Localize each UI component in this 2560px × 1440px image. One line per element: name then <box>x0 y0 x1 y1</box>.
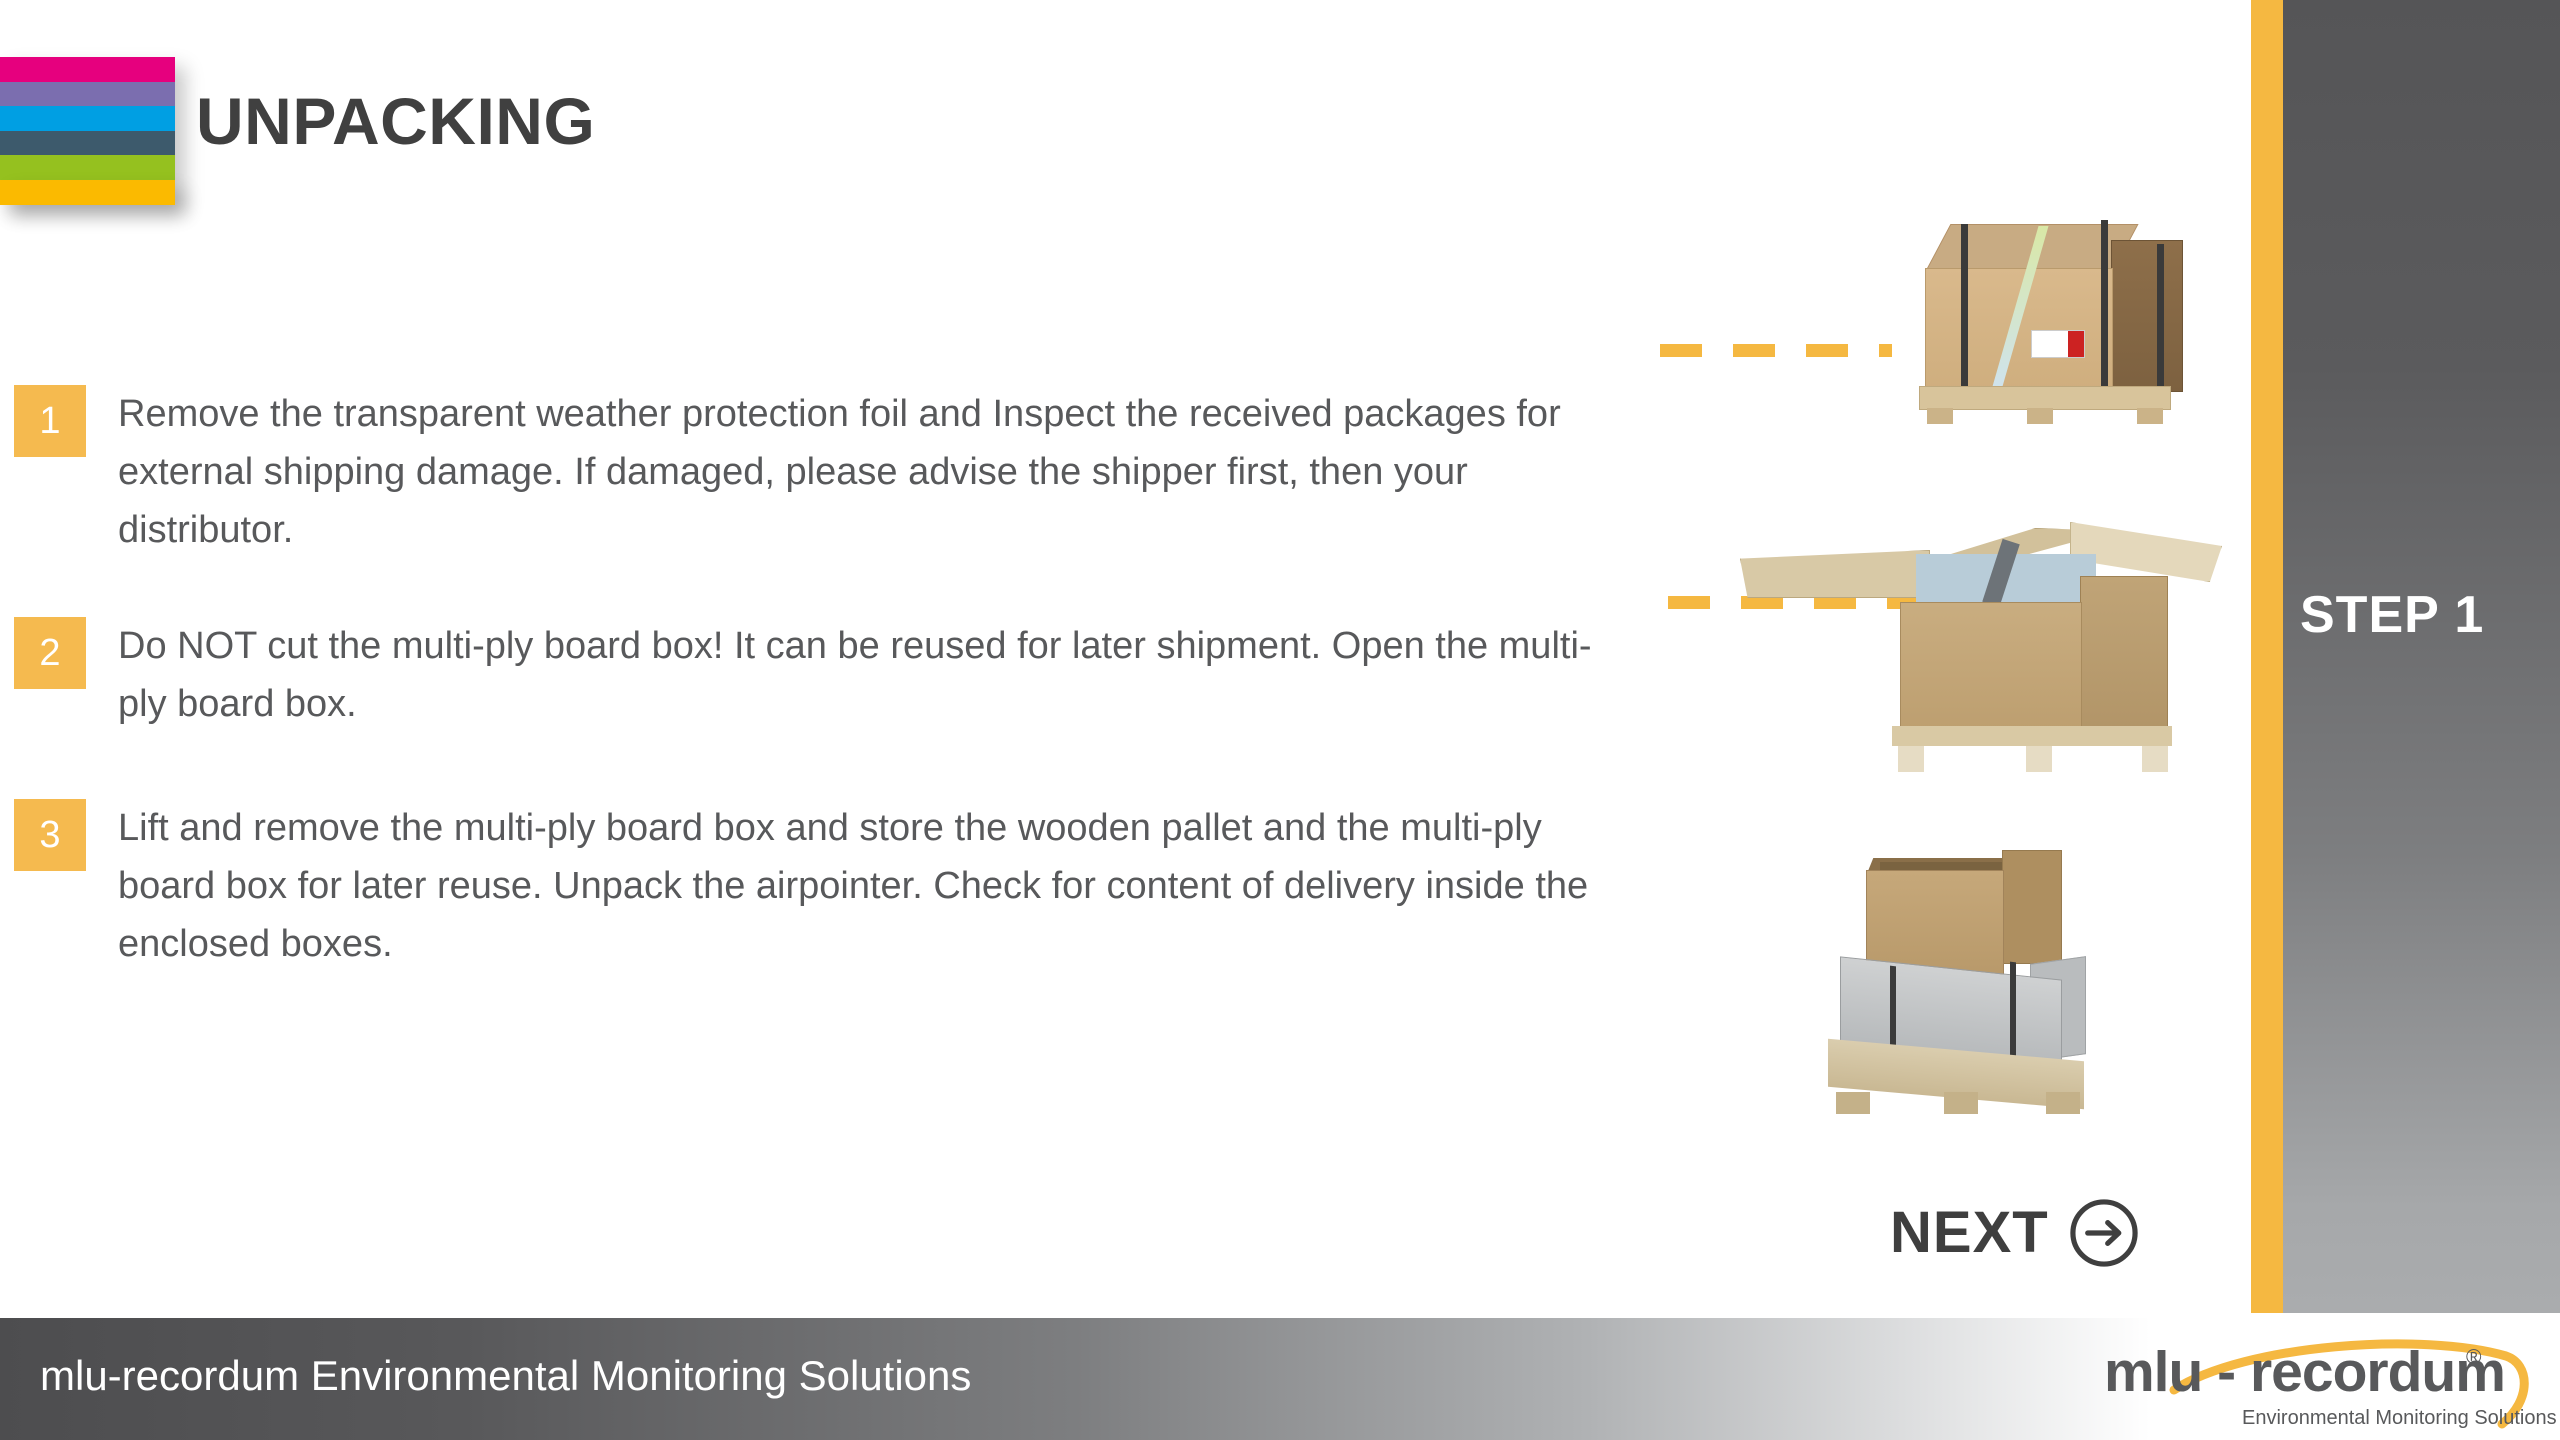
next-button[interactable]: NEXT <box>1890 1196 2141 1270</box>
stripe-slate <box>0 131 175 156</box>
logo-wordmark: mlu - recordum <box>2104 1344 2505 1401</box>
step-text-3: Lift and remove the multi-ply board box … <box>118 799 1680 973</box>
device-on-pallet-with-lifted-box-photo <box>1824 836 2124 1136</box>
registered-trademark-icon: ® <box>2466 1346 2481 1370</box>
opened-cardboard-box-on-pallet-photo <box>1740 510 2220 780</box>
stripe-yellow <box>0 180 175 205</box>
step-number-badge-1: 1 <box>14 385 86 457</box>
stripe-magenta <box>0 57 175 82</box>
right-step-panel <box>2283 0 2560 1313</box>
footer-text: mlu-recordum Environmental Monitoring So… <box>40 1352 971 1400</box>
dashed-connector-line-1 <box>1660 344 1892 357</box>
mlu-recordum-logo: mlu - recordum ® Environmental Monitorin… <box>2094 1338 2534 1434</box>
slide-canvas: UNPACKING 1 Remove the transparent weath… <box>0 0 2560 1440</box>
stripe-blue <box>0 106 175 131</box>
next-button-label: NEXT <box>1890 1204 2049 1262</box>
arrow-right-circle-icon <box>2067 1196 2141 1270</box>
closed-strapped-box-on-pallet-photo <box>1905 210 2205 430</box>
step-text-2: Do NOT cut the multi-ply board box! It c… <box>118 617 1680 733</box>
steps-list: 1 Remove the transparent weather protect… <box>0 385 1680 1031</box>
list-item: 3 Lift and remove the multi-ply board bo… <box>0 799 1680 979</box>
list-item: 1 Remove the transparent weather protect… <box>0 385 1680 565</box>
stripe-purple <box>0 82 175 107</box>
step-label: STEP 1 <box>2300 585 2484 645</box>
page-title: UNPACKING <box>196 88 595 154</box>
logo-tagline: Environmental Monitoring Solutions <box>2242 1408 2557 1428</box>
list-item: 2 Do NOT cut the multi-ply board box! It… <box>0 617 1680 747</box>
stripe-green <box>0 155 175 180</box>
step-number-badge-3: 3 <box>14 799 86 871</box>
dash-segments <box>1660 344 1892 357</box>
step-text-1: Remove the transparent weather protectio… <box>118 385 1680 559</box>
step-number-badge-2: 2 <box>14 617 86 689</box>
right-accent-bar <box>2251 0 2283 1313</box>
